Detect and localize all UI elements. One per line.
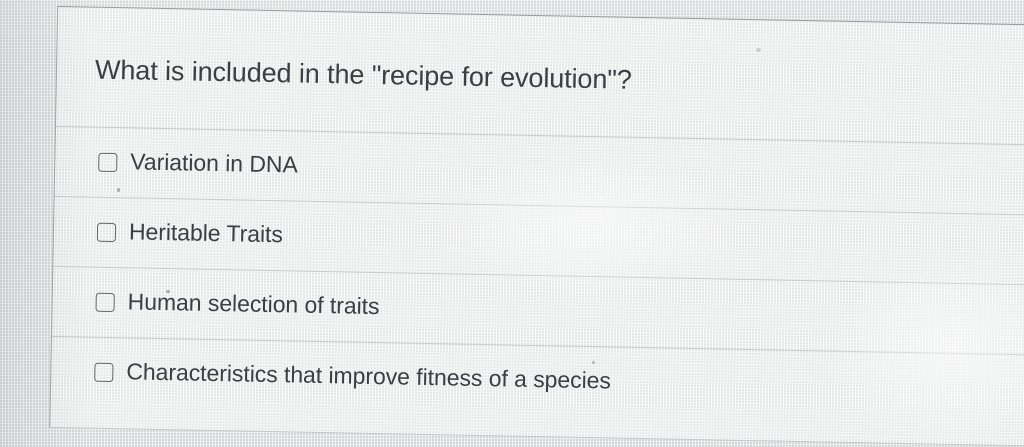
answer-option-label: Characteristics that improve fitness of … — [126, 358, 611, 394]
quiz-screenshot: What is included in the "recipe for evol… — [0, 0, 1024, 447]
checkbox-heritable-traits[interactable] — [97, 223, 116, 242]
checkbox-variation-in-dna[interactable] — [98, 153, 117, 172]
answer-options-list: Variation in DNA Heritable Traits Human … — [51, 126, 1024, 425]
question-card-content: What is included in the "recipe for evol… — [50, 7, 1024, 446]
checkbox-characteristics-that-improve-fitness[interactable] — [94, 363, 113, 382]
answer-option-label: Heritable Traits — [129, 218, 283, 248]
answer-option-label: Human selection of traits — [127, 288, 379, 320]
question-text: What is included in the "recipe for evol… — [95, 54, 955, 104]
checkbox-human-selection-of-traits[interactable] — [95, 293, 114, 312]
question-card: What is included in the "recipe for evol… — [49, 6, 1024, 447]
answer-option-label: Variation in DNA — [130, 148, 298, 178]
rotated-content-wrapper: What is included in the "recipe for evol… — [0, 0, 1024, 447]
